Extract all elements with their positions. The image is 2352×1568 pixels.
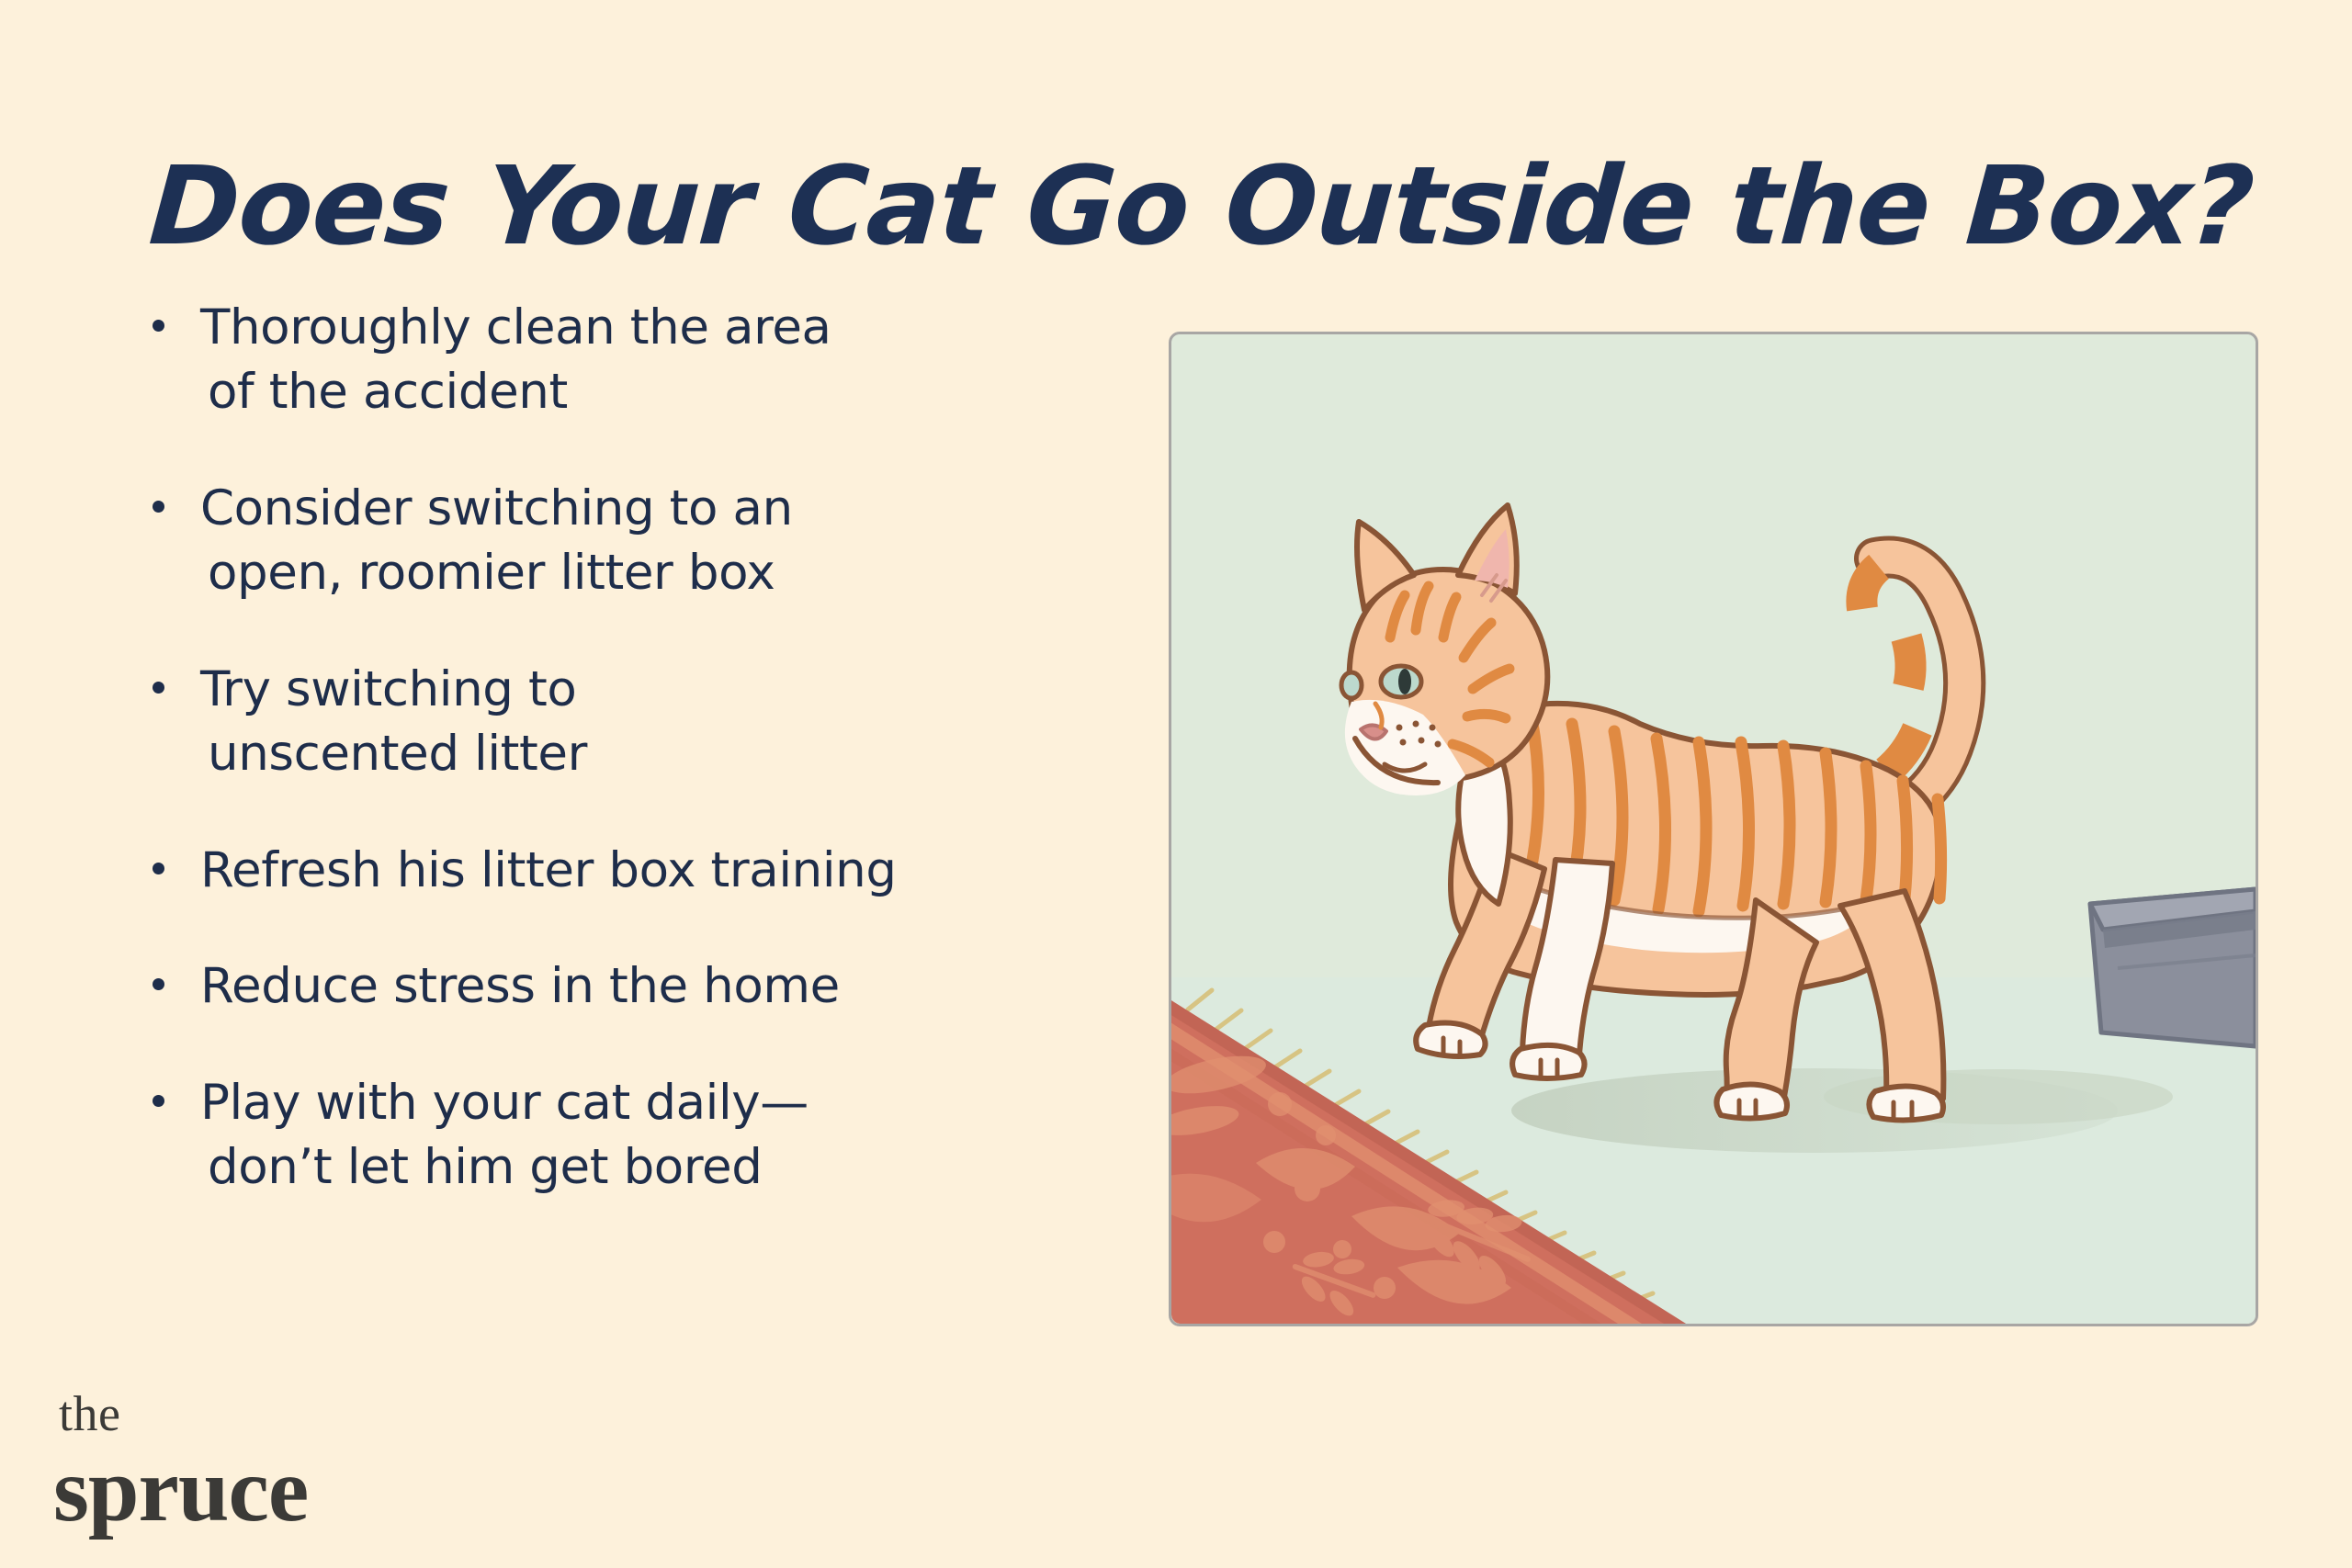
list-item-line2: unscented litter [200, 722, 1121, 786]
list-item-line1: Reduce stress in the home [200, 958, 840, 1014]
list-item: Consider switching to an open, roomier l… [147, 477, 1121, 606]
logo-spruce-text: spruce [53, 1444, 308, 1536]
list-item-line1: Play with your cat daily— [200, 1075, 808, 1131]
list-item: Play with your cat daily— don’t let him … [147, 1071, 1121, 1201]
list-item-line1: Thoroughly clean the area [200, 299, 831, 355]
litter-box [2090, 889, 2256, 1046]
cat-illustration [1169, 332, 2258, 1326]
cat-illustration-svg [1171, 334, 2256, 1324]
list-item-line1: Try switching to [200, 661, 576, 717]
list-item-line2: don’t let him get bored [200, 1135, 1121, 1200]
bullet-dot-icon [153, 863, 164, 874]
bullet-dot-icon [153, 1095, 164, 1107]
bullet-dot-icon [153, 501, 164, 513]
page-title: Does Your Cat Go Outside the Box? [146, 144, 2231, 269]
bullet-dot-icon [153, 682, 164, 694]
list-item-line1: Refresh his litter box training [200, 842, 897, 898]
brand-logo: the spruce [53, 1389, 308, 1536]
list-item: Try switching to unscented litter [147, 658, 1121, 787]
list-item-line2: of the accident [200, 360, 1121, 424]
cat-eye [1381, 666, 1421, 697]
bullet-dot-icon [153, 978, 164, 990]
cat-rear-paw-front [1869, 1086, 1943, 1120]
list-item: Reduce stress in the home [147, 954, 1121, 1019]
tips-list: Thoroughly clean the area of the acciden… [147, 296, 1121, 1201]
infographic-page: Does Your Cat Go Outside the Box? Thorou… [0, 0, 2352, 1568]
bullet-dot-icon [153, 320, 164, 332]
list-item-line1: Consider switching to an [200, 480, 793, 536]
list-item: Refresh his litter box training [147, 839, 1121, 903]
logo-the-text: the [59, 1389, 308, 1438]
cat-rear-paw-back [1716, 1084, 1787, 1118]
cat-front-paw-back [1416, 1023, 1485, 1056]
list-item: Thoroughly clean the area of the acciden… [147, 296, 1121, 425]
cat-eye-far [1341, 672, 1362, 698]
list-item-line2: open, roomier litter box [200, 541, 1121, 605]
cat-front-paw-front [1512, 1045, 1584, 1078]
